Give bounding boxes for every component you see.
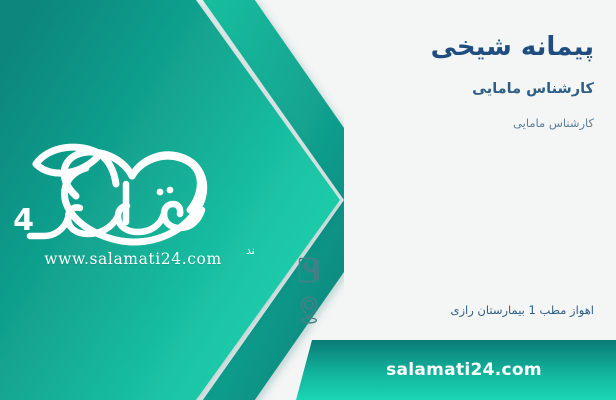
- contact-row-phone[interactable]: [294, 250, 594, 290]
- logo-tagline: براحتی یک لبخند: [246, 244, 254, 257]
- footer-website: salamati24.com: [312, 340, 616, 400]
- logo-dot-2: [167, 187, 174, 194]
- logo-badge-24: 24: [14, 203, 34, 238]
- logo-letter-tail: [30, 218, 68, 236]
- profile-specialty: کارشناس مامایی: [326, 79, 594, 99]
- phone-book-icon[interactable]: [294, 254, 324, 286]
- logo-dot-1: [157, 189, 164, 196]
- brand-website: www.salamati24.com: [38, 250, 228, 268]
- apple-outline-left: [64, 152, 200, 210]
- location-pin-icon[interactable]: [294, 294, 324, 326]
- page-title: پیمانه شیخی: [326, 30, 594, 65]
- contact-list: اهواز مطب 1 بیمارستان رازی: [294, 250, 594, 330]
- business-card: 24 براحتی یک لبخند www.salamati24.com پی…: [0, 0, 616, 400]
- address-label: اهواز مطب 1 بیمارستان رازی: [334, 303, 594, 318]
- profile-info: پیمانه شیخی کارشناس مامایی کارشناس مامای…: [326, 30, 594, 131]
- profile-specialty-secondary: کارشناس مامایی: [326, 115, 594, 131]
- contact-row-address[interactable]: اهواز مطب 1 بیمارستان رازی: [294, 290, 594, 330]
